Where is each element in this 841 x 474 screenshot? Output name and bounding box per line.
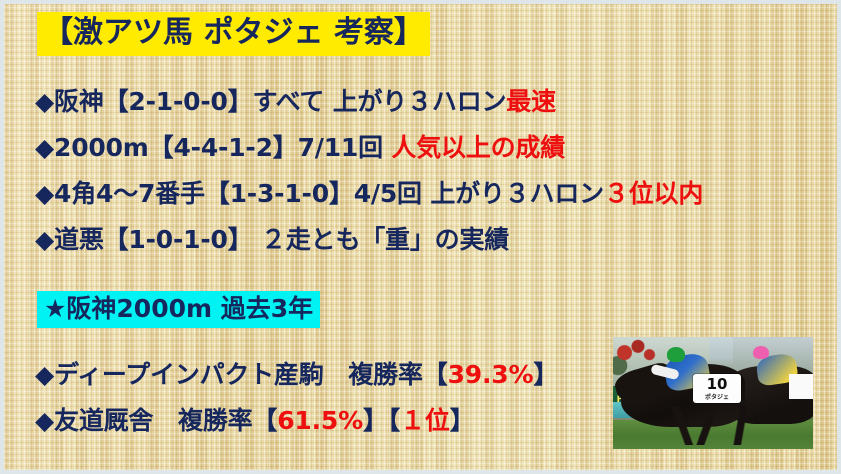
stat-line-2: ◆友道厩舎 複勝率【61.5%】【１位】	[35, 401, 475, 437]
bullet-text: 4角4〜7番手【1-3-1-0】4/5回 上がり３ハロン	[54, 179, 604, 208]
bullet-marker: ◆	[35, 179, 54, 208]
bullet-emphasis: 人気以上の成績	[391, 133, 565, 162]
photo-saddle-number: 10	[693, 374, 741, 394]
photo-helmet-leading-icon	[667, 347, 685, 362]
bullet-line-1: ◆阪神【2-1-0-0】すべて 上がり３ハロン最速	[35, 82, 556, 118]
photo-horse-name: ポタジェ	[693, 393, 741, 403]
section-heading: ★阪神2000m 過去3年	[37, 291, 320, 328]
stat-text: 友道厩舎 複勝率【	[54, 406, 277, 435]
bullet-marker: ◆	[35, 87, 54, 116]
bullet-emphasis: ３位以内	[604, 179, 703, 208]
bullet-marker: ◆	[35, 360, 54, 389]
stat-text: ディープインパクト産駒 複勝率【	[54, 360, 448, 389]
stat-value: 39.3%	[448, 360, 534, 389]
photo-saddlecloth-trailing	[789, 374, 813, 399]
race-photo: HOLIDAYS 10 ポタジェ	[613, 337, 813, 449]
stat-text-trailing-2: 】	[450, 406, 475, 435]
stat-value: 61.5%	[277, 406, 363, 435]
bullet-marker: ◆	[35, 225, 54, 254]
bullet-line-2: ◆2000m【4-4-1-2】7/11回 人気以上の成績	[35, 128, 565, 164]
stat-rank: １位	[400, 406, 450, 435]
page-title: 【激アツ馬 ポタジェ 考察】	[37, 12, 430, 56]
stat-text-trailing: 】	[533, 360, 558, 389]
stat-text-trailing: 】【	[363, 406, 400, 435]
bullet-text: 阪神【2-1-0-0】すべて 上がり３ハロン	[54, 87, 506, 116]
slide-canvas: 【激アツ馬 ポタジェ 考察】 ◆阪神【2-1-0-0】すべて 上がり３ハロン最速…	[0, 0, 841, 474]
photo-horse-legs	[637, 406, 781, 444]
bullet-text: 2000m【4-4-1-2】7/11回	[54, 133, 391, 162]
stat-line-1: ◆ディープインパクト産駒 複勝率【39.3%】	[35, 355, 558, 391]
bullet-marker: ◆	[35, 133, 54, 162]
bullet-line-3: ◆4角4〜7番手【1-3-1-0】4/5回 上がり３ハロン３位以内	[35, 174, 703, 210]
photo-helmet-trailing-icon	[753, 346, 769, 359]
bullet-emphasis: 最速	[506, 87, 556, 116]
bullet-line-4: ◆道悪【1-0-1-0】 ２走とも「重」の実績	[35, 220, 509, 256]
bullet-text: 道悪【1-0-1-0】 ２走とも「重」の実績	[54, 225, 509, 254]
bullet-marker: ◆	[35, 406, 54, 435]
